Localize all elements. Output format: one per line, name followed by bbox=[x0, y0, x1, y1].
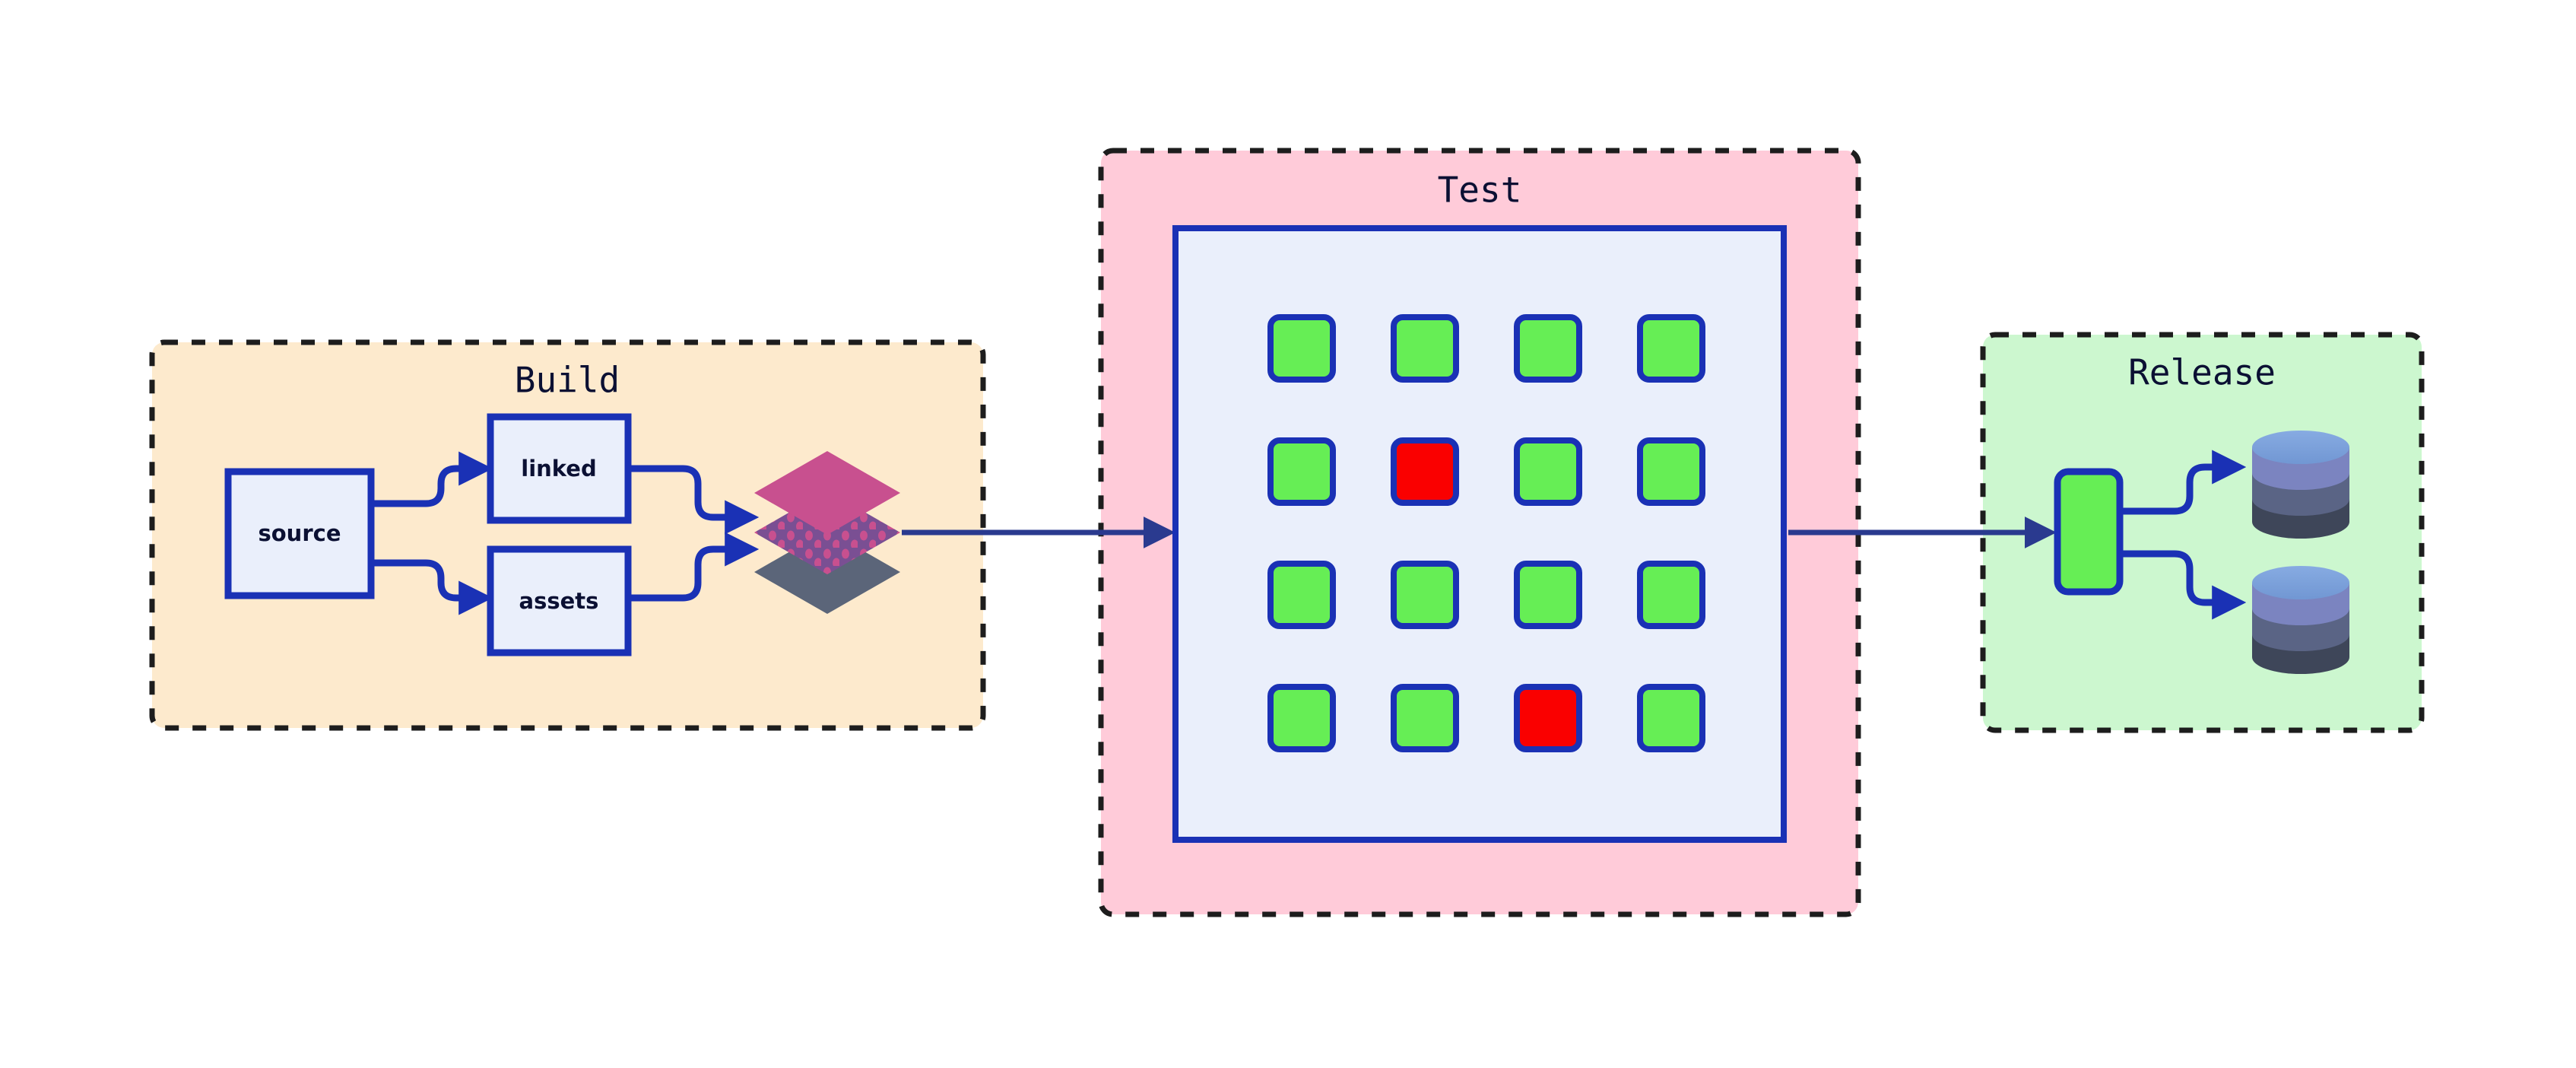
db1-top bbox=[2252, 431, 2349, 464]
test-cell-pass[interactable] bbox=[1271, 440, 1333, 503]
pipeline-diagram: Build Test Release source l bbox=[0, 0, 2576, 1068]
test-cell-pass[interactable] bbox=[1271, 687, 1333, 749]
test-cell-pass[interactable] bbox=[1271, 564, 1333, 626]
linked-label: linked bbox=[521, 456, 596, 482]
test-cell-pass[interactable] bbox=[1640, 564, 1702, 626]
release-container bbox=[1983, 335, 2422, 730]
test-cell-pass[interactable] bbox=[1640, 687, 1702, 749]
stage-release: Release bbox=[1983, 335, 2422, 730]
diagram-canvas: Build Test Release source l bbox=[0, 0, 2576, 1068]
release-title: Release bbox=[2128, 352, 2276, 393]
database-replica-icon[interactable] bbox=[2252, 566, 2349, 674]
test-title: Test bbox=[1438, 170, 1522, 211]
test-cell-pass[interactable] bbox=[1517, 564, 1579, 626]
release-gate-box[interactable] bbox=[2057, 472, 2120, 592]
test-cell-fail[interactable] bbox=[1394, 440, 1456, 503]
test-cell-pass[interactable] bbox=[1640, 317, 1702, 380]
build-node-source[interactable]: source bbox=[228, 472, 371, 596]
test-cell-pass[interactable] bbox=[1517, 317, 1579, 380]
test-cell-pass[interactable] bbox=[1517, 440, 1579, 503]
test-cell-pass[interactable] bbox=[1394, 317, 1456, 380]
test-cell-pass[interactable] bbox=[1640, 440, 1702, 503]
build-node-assets[interactable]: assets bbox=[490, 549, 628, 653]
test-cell-pass[interactable] bbox=[1394, 687, 1456, 749]
release-gate[interactable] bbox=[2057, 472, 2120, 592]
build-node-linked[interactable]: linked bbox=[490, 417, 628, 520]
assets-label: assets bbox=[519, 588, 599, 614]
source-label: source bbox=[259, 520, 341, 546]
db2-top bbox=[2252, 566, 2349, 599]
database-primary-icon[interactable] bbox=[2252, 431, 2349, 539]
test-cell-pass[interactable] bbox=[1394, 564, 1456, 626]
test-cell-fail[interactable] bbox=[1517, 687, 1579, 749]
build-title: Build bbox=[515, 360, 620, 401]
test-cell-pass[interactable] bbox=[1271, 317, 1333, 380]
